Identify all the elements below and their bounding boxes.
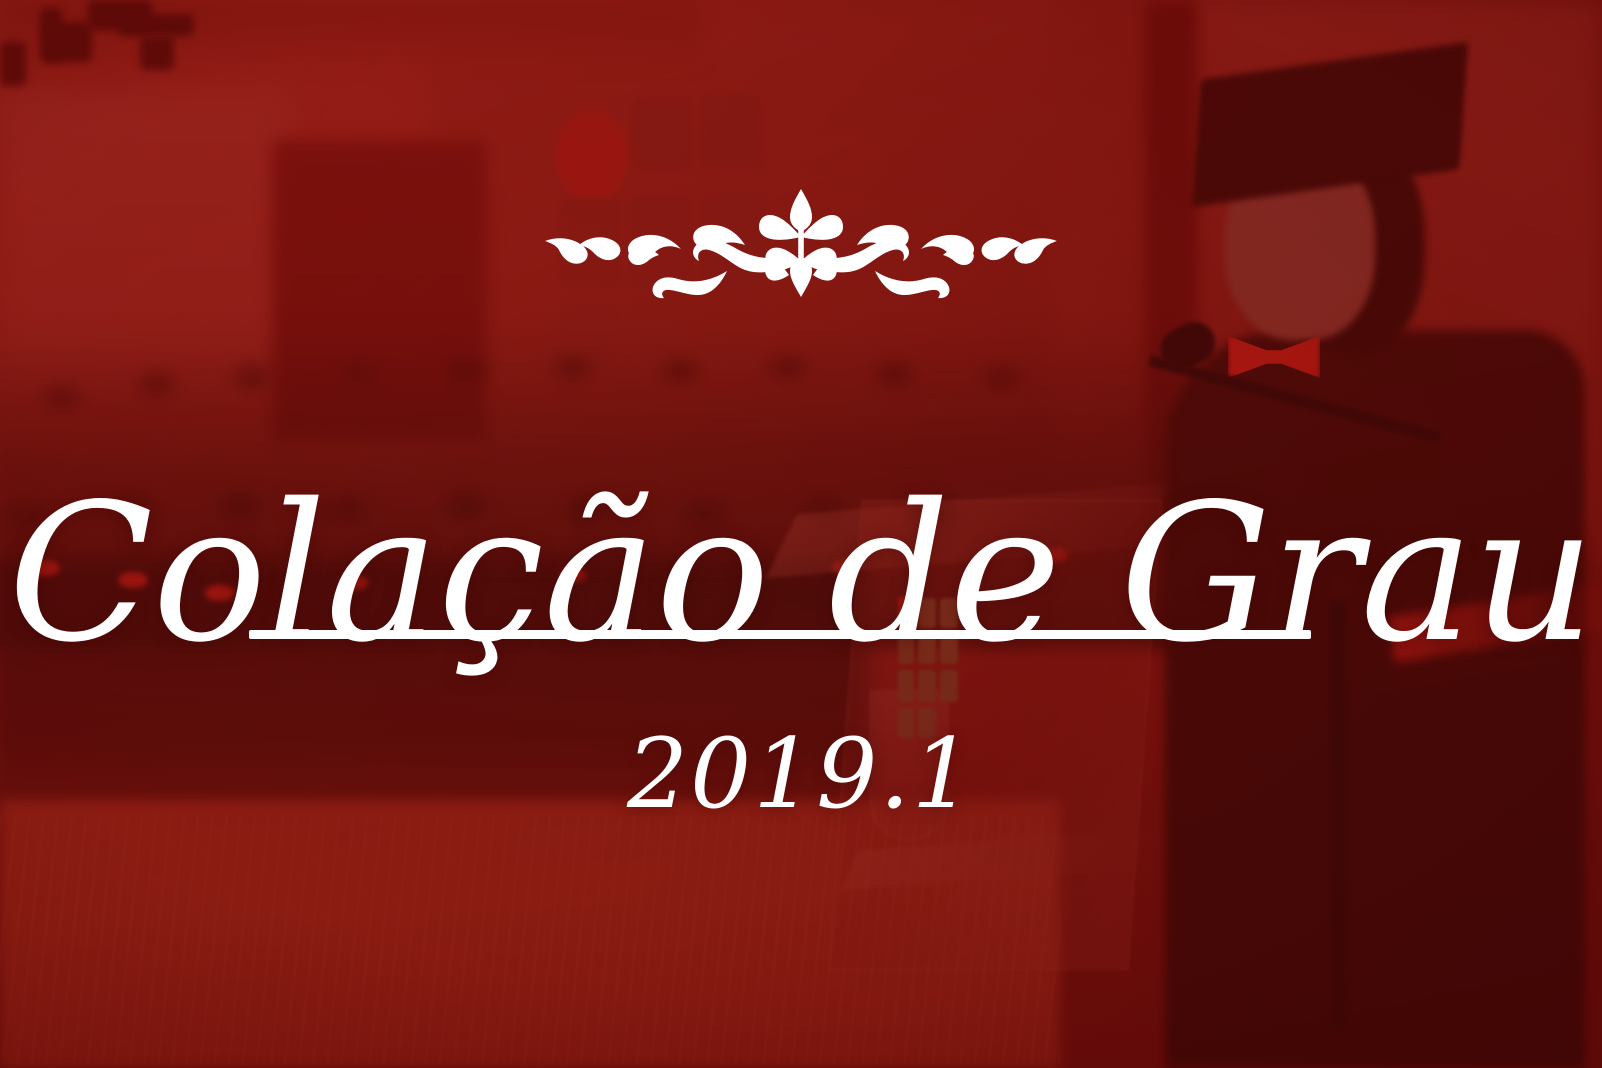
floral-flourish-divider-icon (531, 183, 1071, 303)
text-overlay: Colação de Grau (0, 0, 1602, 1068)
rule-line (249, 630, 1311, 639)
term-label: 2019.1 (0, 726, 1602, 822)
graduation-title-card: Colação de Grau (0, 0, 1602, 1068)
dotted-rule-divider (225, 604, 1335, 666)
